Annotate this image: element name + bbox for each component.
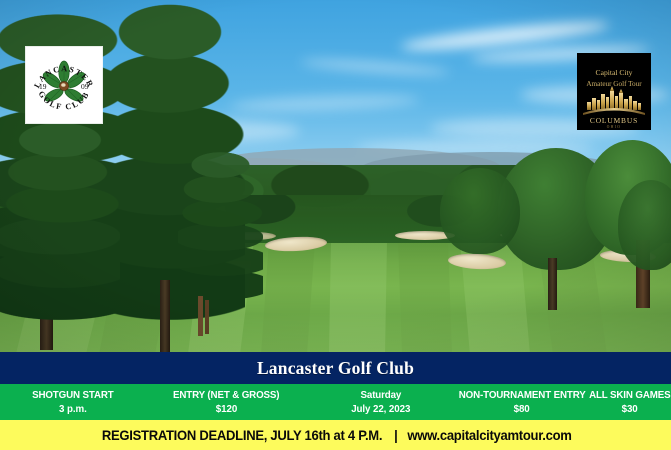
info-column-shotgun-start: SHOTGUN START 3 p.m. [0,384,146,420]
registration-deadline-text: REGISTRATION DEADLINE, JULY 16th at 4 P.… [102,428,382,443]
info-label: SHOTGUN START [32,389,114,402]
logo-line1: Capital City [596,68,633,77]
lancaster-golf-club-logo: LANCASTER GOLF CLUB 19 09 [26,47,102,123]
event-poster: LANCASTER GOLF CLUB 19 09 [0,0,671,450]
logo-year-right: 09 [81,82,89,91]
mow-stripe [398,243,452,352]
deciduous-tree [440,168,520,254]
evergreen-tree [0,120,120,320]
cloud [230,93,420,114]
website-link[interactable]: www.capitalcityamtour.com [407,428,571,443]
deadline-band: REGISTRATION DEADLINE, JULY 16th at 4 P.… [0,420,671,450]
mow-stripe [261,243,315,352]
logo-line2: Amateur Golf Tour [586,80,642,88]
golf-course-photo: LANCASTER GOLF CLUB 19 09 [0,0,671,352]
info-value: $80 [514,402,530,416]
info-column-date: Saturday July 22, 2023 [307,384,455,420]
logo-city: COLUMBUS [590,116,638,125]
capital-city-amateur-golf-tour-logo: Capital City Amateur Golf Tour [577,53,651,130]
tree-trunk [160,280,170,352]
info-value: July 22, 2023 [352,402,411,416]
info-value: $30 [622,402,638,416]
tree-trunk [548,258,557,310]
separator: | [389,428,404,443]
fence-post [205,300,209,334]
title-band: Lancaster Golf Club [0,352,671,384]
info-band: SHOTGUN START 3 p.m. ENTRY (NET & GROSS)… [0,384,671,420]
logo-tagline: OHIO [607,125,622,129]
info-column-all-skin-games: ALL SKIN GAMES $30 [589,384,671,420]
info-label: ALL SKIN GAMES [589,389,670,402]
info-column-non-tournament-entry: NON-TOURNAMENT ENTRY $80 [455,384,589,420]
info-label: Saturday [361,389,402,402]
cloud [300,57,450,77]
info-column-entry: ENTRY (NET & GROSS) $120 [146,384,308,420]
info-label: NON-TOURNAMENT ENTRY [459,389,586,402]
mow-stripe [329,243,387,352]
info-value: 3 p.m. [59,402,87,416]
info-label: ENTRY (NET & GROSS) [173,389,279,402]
info-value: $120 [216,402,237,416]
evergreen-tree [178,150,263,300]
deciduous-tree [618,180,671,270]
page-title: Lancaster Golf Club [257,358,414,379]
logo-year-left: 19 [39,82,47,91]
fence-post [198,296,203,336]
